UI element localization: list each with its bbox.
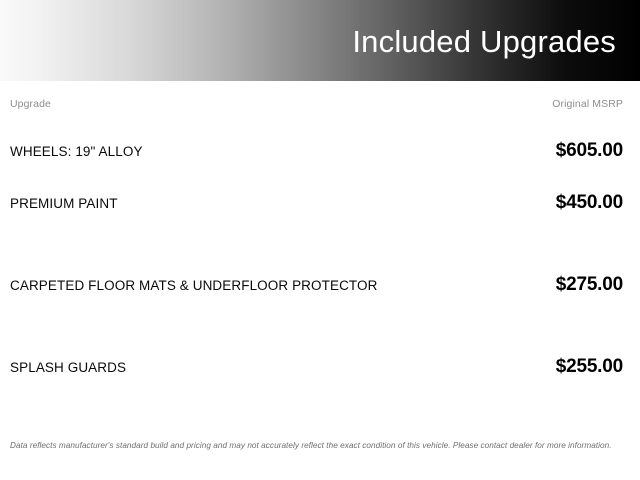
upgrade-name: CARPETED FLOOR MATS & UNDERFLOOR PROTECT…: [10, 278, 394, 293]
upgrade-price: $450.00: [556, 192, 623, 214]
upgrade-price: $275.00: [556, 274, 623, 296]
page-title: Included Upgrades: [352, 26, 616, 57]
table-row: PREMIUM PAINT $450.00: [0, 192, 640, 274]
upgrade-name: PREMIUM PAINT: [10, 196, 134, 211]
column-header-original-msrp: Original MSRP: [552, 98, 623, 110]
disclaimer-text: Data reflects manufacturer's standard bu…: [10, 441, 630, 452]
upgrade-name: WHEELS: 19" ALLOY: [10, 144, 159, 159]
column-header-upgrade: Upgrade: [10, 98, 51, 110]
upgrade-name: SPLASH GUARDS: [10, 360, 142, 375]
upgrade-price: $255.00: [556, 356, 623, 378]
upgrade-price: $605.00: [556, 140, 623, 162]
table-row: CARPETED FLOOR MATS & UNDERFLOOR PROTECT…: [0, 274, 640, 356]
table-row: SPLASH GUARDS $255.00: [0, 356, 640, 438]
upgrades-list: WHEELS: 19" ALLOY $605.00 PREMIUM PAINT …: [0, 110, 640, 438]
table-row: WHEELS: 19" ALLOY $605.00: [0, 110, 640, 192]
included-upgrades-panel: Included Upgrades Upgrade Original MSRP …: [0, 0, 640, 480]
table-column-headers: Upgrade Original MSRP: [0, 81, 640, 110]
header-banner: Included Upgrades: [0, 0, 640, 81]
